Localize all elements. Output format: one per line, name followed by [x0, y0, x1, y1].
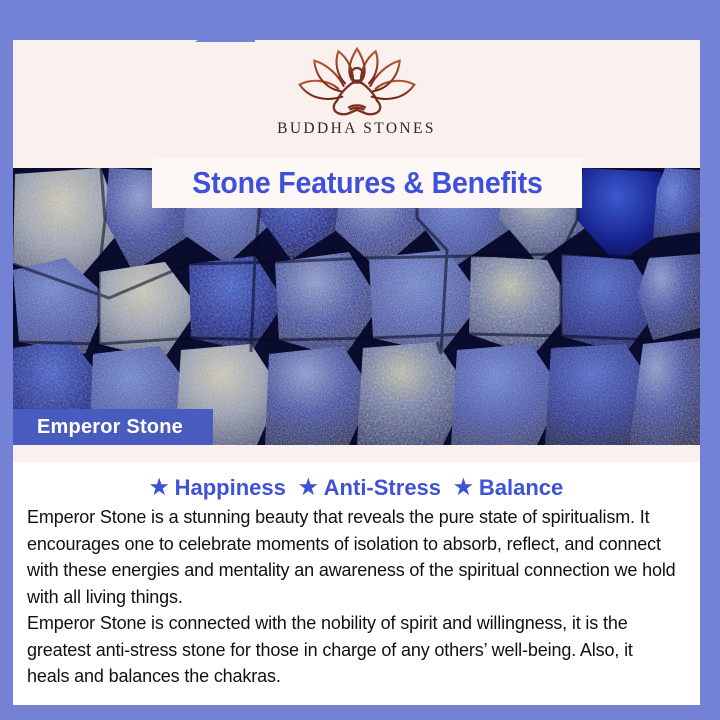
star-icon: ★	[454, 477, 473, 498]
benefit-label: Anti-Stress	[324, 475, 441, 501]
stone-photo: Emperor Stone	[13, 168, 700, 445]
content-area: ★ Happiness ★ Anti-Stress ★ Balance Empe…	[13, 462, 700, 705]
description-paragraph-1: Emperor Stone is a stunning beauty that …	[27, 504, 676, 610]
poster-card: BUDDHA STONES Stone Features & Benefits	[13, 40, 700, 705]
photo-underline-strip	[13, 445, 700, 462]
benefit-item-anti-stress: ★ Anti-Stress	[299, 475, 441, 501]
star-icon: ★	[299, 477, 318, 498]
description-paragraph-2: Emperor Stone is connected with the nobi…	[27, 610, 676, 690]
lapis-lazuli-stones-illustration	[13, 168, 700, 445]
benefit-label: Balance	[479, 475, 563, 501]
page-title: Stone Features & Benefits	[192, 165, 542, 201]
benefit-label: Happiness	[175, 475, 286, 501]
title-ribbon: Stone Features & Benefits	[152, 158, 582, 208]
star-icon: ★	[150, 477, 169, 498]
poster-root: BUDDHA STONES Stone Features & Benefits	[0, 0, 720, 720]
benefits-row: ★ Happiness ★ Anti-Stress ★ Balance	[27, 475, 686, 501]
lotus-meditation-icon	[289, 46, 425, 118]
benefit-item-happiness: ★ Happiness	[150, 475, 286, 501]
brand-logo: BUDDHA STONES	[13, 46, 700, 138]
brand-name: BUDDHA STONES	[277, 120, 436, 138]
header: BUDDHA STONES	[13, 40, 700, 168]
frame-corner-wedge	[195, 0, 255, 42]
stone-name-badge: Emperor Stone	[13, 409, 213, 445]
benefit-item-balance: ★ Balance	[454, 475, 563, 501]
